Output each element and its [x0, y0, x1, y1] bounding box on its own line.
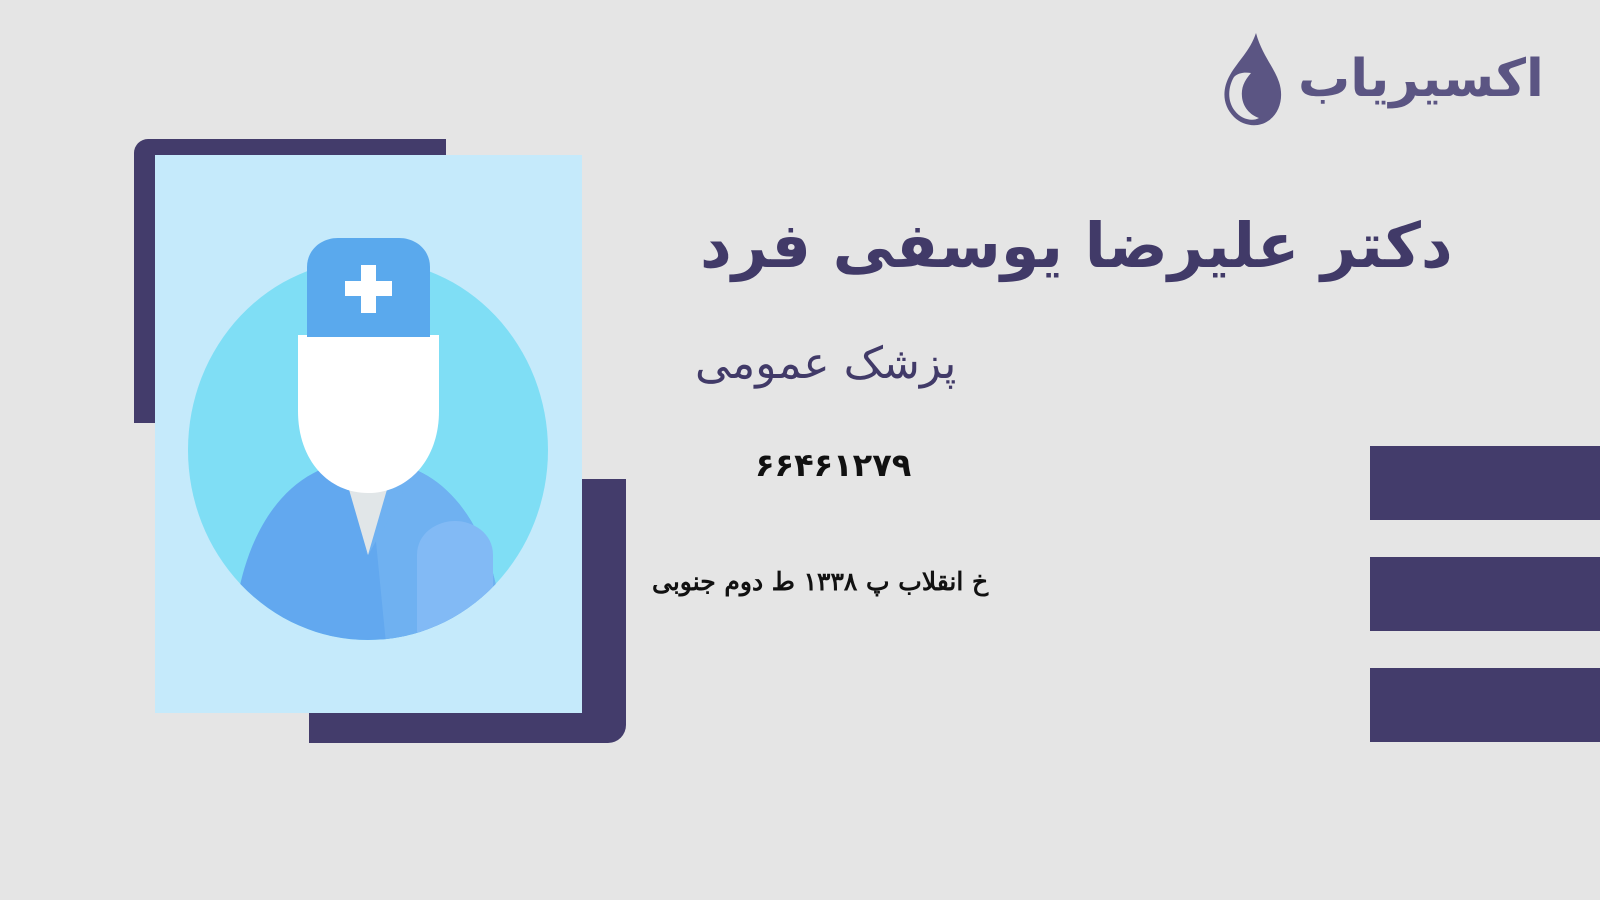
business-card: اکسیریاب [0, 0, 1600, 900]
doctor-illustration [134, 139, 626, 743]
doctor-specialty: پزشک عمومی [695, 338, 1395, 391]
doctor-phone: ۶۶۴۶۱۲۷۹ [755, 446, 1355, 484]
doctor-address: خ انقلاب پ ۱۳۳۸ ط دوم جنوبی [652, 566, 1352, 597]
brand-logo[interactable]: اکسیریاب [1210, 24, 1530, 134]
decor-bar-3 [1370, 668, 1600, 742]
brand-name: اکسیریاب [1298, 53, 1544, 105]
flame-icon [1210, 31, 1284, 127]
doctor-name: دکتر علیرضا یوسفی فرد [700, 210, 1500, 281]
decor-bar-2 [1370, 557, 1600, 631]
doctor-avatar [155, 155, 582, 713]
decor-bar-1 [1370, 446, 1600, 520]
